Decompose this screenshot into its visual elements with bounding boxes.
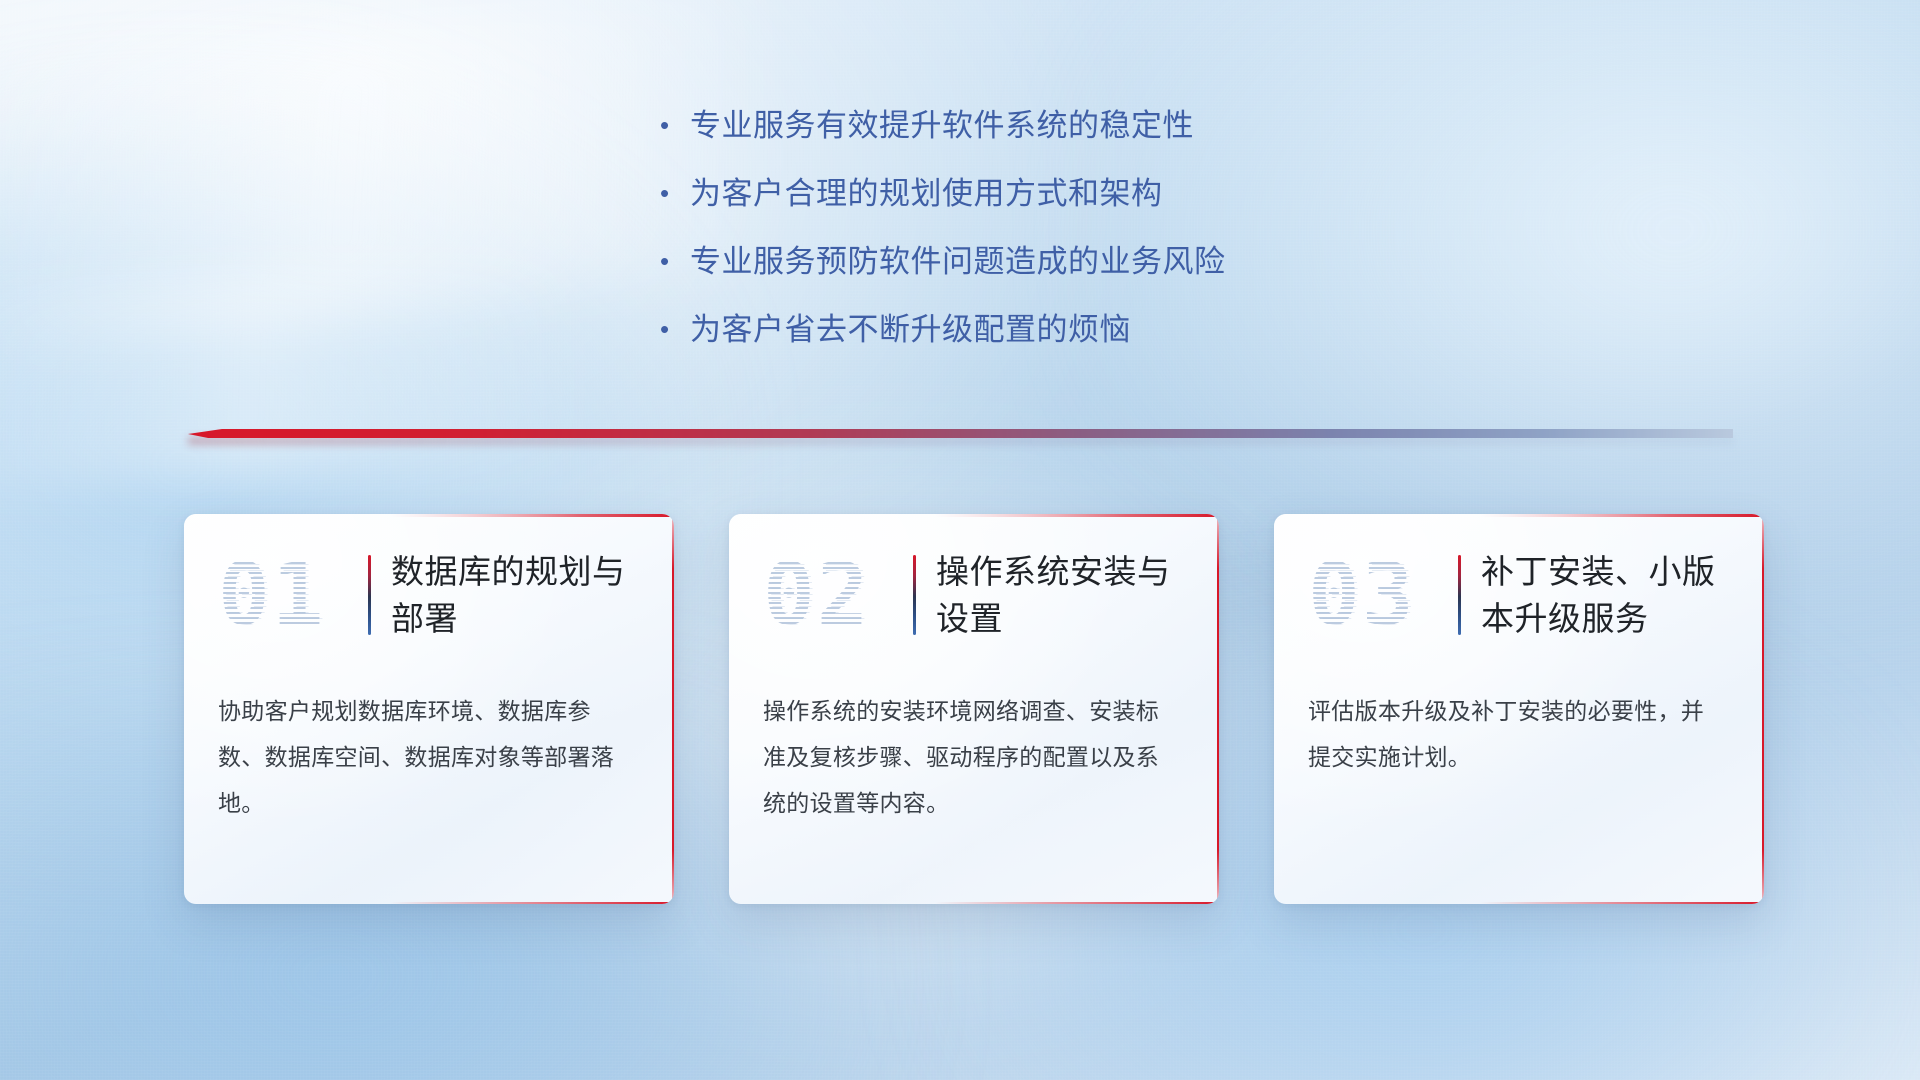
service-card-row: 01 数据库的规划与部署 协助客户规划数据库环境、数据库参数、数据库空间、数据库… <box>184 514 1764 904</box>
card-header: 03 补丁安装、小版本升级服务 <box>1274 514 1764 676</box>
card-body-text: 操作系统的安装环境网络调查、安装标准及复核步骤、驱动程序的配置以及系统的设置等内… <box>729 676 1219 826</box>
bullet-dot-icon: • <box>660 238 690 285</box>
card-accent-bottom-edge <box>935 902 1219 905</box>
card-title: 操作系统安装与设置 <box>936 548 1193 642</box>
bullet-text-4: 为客户省去不断升级配置的烦恼 <box>690 306 1131 353</box>
benefits-bullet-list: • 专业服务有效提升软件系统的稳定性 • 为客户合理的规划使用方式和架构 • 专… <box>660 102 1420 374</box>
list-item: • 专业服务有效提升软件系统的稳定性 <box>660 102 1420 149</box>
card-title: 补丁安装、小版本升级服务 <box>1481 548 1738 642</box>
divider-shadow <box>188 437 1733 445</box>
bullet-dot-icon: • <box>660 170 690 217</box>
bullet-dot-icon: • <box>660 102 690 149</box>
card-divider-bar <box>913 555 916 635</box>
list-item: • 为客户省去不断升级配置的烦恼 <box>660 306 1420 353</box>
section-divider <box>188 424 1733 448</box>
bullet-text-1: 专业服务有效提升软件系统的稳定性 <box>690 102 1194 149</box>
card-accent-bottom-edge <box>390 902 674 905</box>
card-divider-bar <box>368 555 371 635</box>
bullet-dot-icon: • <box>660 306 690 353</box>
divider-line <box>188 429 1733 438</box>
list-item: • 专业服务预防软件问题造成的业务风险 <box>660 238 1420 285</box>
card-number-watermark: 02 <box>763 552 913 638</box>
card-header: 01 数据库的规划与部署 <box>184 514 674 676</box>
card-title: 数据库的规划与部署 <box>391 548 648 642</box>
card-number-watermark: 03 <box>1308 552 1458 638</box>
service-card-03[interactable]: 03 补丁安装、小版本升级服务 评估版本升级及补丁安装的必要性，并提交实施计划。 <box>1274 514 1764 904</box>
card-divider-bar <box>1458 555 1461 635</box>
card-accent-bottom-edge <box>1480 902 1764 905</box>
card-number-watermark: 01 <box>218 552 368 638</box>
service-card-01[interactable]: 01 数据库的规划与部署 协助客户规划数据库环境、数据库参数、数据库空间、数据库… <box>184 514 674 904</box>
list-item: • 为客户合理的规划使用方式和架构 <box>660 170 1420 217</box>
bullet-text-3: 专业服务预防软件问题造成的业务风险 <box>690 238 1226 285</box>
bullet-text-2: 为客户合理的规划使用方式和架构 <box>690 170 1163 217</box>
card-body-text: 评估版本升级及补丁安装的必要性，并提交实施计划。 <box>1274 676 1764 780</box>
service-card-02[interactable]: 02 操作系统安装与设置 操作系统的安装环境网络调查、安装标准及复核步骤、驱动程… <box>729 514 1219 904</box>
card-header: 02 操作系统安装与设置 <box>729 514 1219 676</box>
card-body-text: 协助客户规划数据库环境、数据库参数、数据库空间、数据库对象等部署落地。 <box>184 676 674 826</box>
